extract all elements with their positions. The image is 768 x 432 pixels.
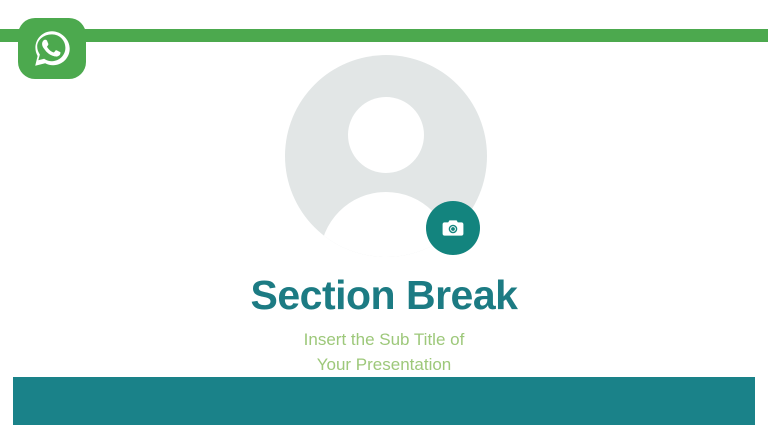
camera-button[interactable] xyxy=(426,201,480,255)
whatsapp-logo-icon xyxy=(30,27,74,71)
avatar-head-shape xyxy=(348,97,424,173)
top-accent-bar xyxy=(0,29,768,42)
section-subtitle: Insert the Sub Title of Your Presentatio… xyxy=(0,328,768,377)
subtitle-line-2: Your Presentation xyxy=(0,353,768,378)
bottom-accent-bar xyxy=(13,377,755,425)
section-title: Section Break xyxy=(0,274,768,317)
subtitle-line-1: Insert the Sub Title of xyxy=(0,328,768,353)
presentation-slide: Section Break Insert the Sub Title of Yo… xyxy=(0,0,768,432)
camera-icon xyxy=(440,215,466,241)
brand-logo-badge[interactable] xyxy=(18,18,86,79)
